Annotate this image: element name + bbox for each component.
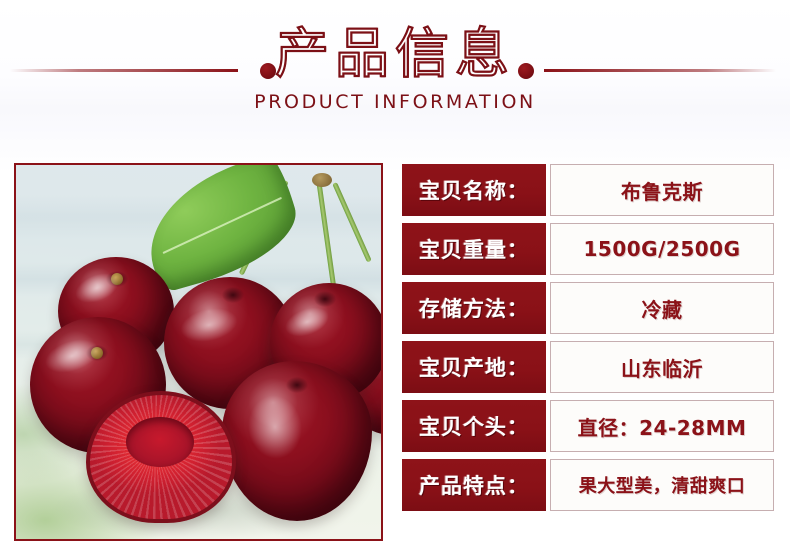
spec-label-cell: 宝贝重量： (402, 223, 546, 275)
spec-value-text: 布鲁克斯 (621, 176, 703, 205)
spec-label-text: 宝贝个头： (419, 411, 529, 441)
spec-label-text: 宝贝产地： (419, 352, 529, 382)
spec-value-cell: 布鲁克斯 (550, 164, 774, 216)
spec-value-cell: 1500G/2500G (550, 223, 774, 275)
product-photo (14, 163, 383, 541)
cherry-dimple (286, 377, 308, 393)
page-header: 产品信息 PRODUCT INFORMATION (0, 0, 790, 150)
table-row: 宝贝产地： 山东临沂 (402, 341, 774, 393)
cherry-dimple (222, 287, 244, 303)
spec-value-text: 直径：24-28MM (578, 412, 747, 441)
page-title: 产品信息 (0, 24, 790, 84)
spec-value-cell: 果大型美，清甜爽口 (550, 459, 774, 511)
spec-label-text: 产品特点： (419, 470, 529, 500)
spec-label-text: 存储方法： (419, 293, 529, 323)
spec-value-text: 1500G/2500G (584, 237, 741, 261)
cherry-highlight (177, 303, 240, 346)
content-area: 宝贝名称： 布鲁克斯 宝贝重量： 1500G/2500G 存储方法： (0, 150, 790, 542)
table-row: 宝贝名称： 布鲁克斯 (402, 164, 774, 216)
spec-value-cell: 直径：24-28MM (550, 400, 774, 452)
product-information-page: 产品信息 PRODUCT INFORMATION (0, 0, 790, 542)
table-row: 产品特点： 果大型美，清甜爽口 (402, 459, 774, 511)
halved-cherry (86, 391, 236, 523)
cherry-fruit (222, 361, 372, 521)
cherry-highlight (244, 392, 306, 463)
spec-label-text: 宝贝名称： (419, 175, 529, 205)
cherry-stem-node (312, 173, 332, 187)
cherry-highlight (41, 333, 104, 379)
spec-label-cell: 宝贝个头： (402, 400, 546, 452)
product-photo-image (16, 165, 381, 539)
spec-label-cell: 宝贝产地： (402, 341, 546, 393)
spec-label-text: 宝贝重量： (419, 234, 529, 264)
table-row: 存储方法： 冷藏 (402, 282, 774, 334)
spec-value-cell: 山东临沂 (550, 341, 774, 393)
cherry-dimple (314, 291, 336, 307)
spec-value-text: 山东临沂 (621, 353, 703, 382)
cherry-highlight (281, 302, 333, 342)
spec-value-text: 冷藏 (642, 294, 683, 323)
spec-value-cell: 冷藏 (550, 282, 774, 334)
table-row: 宝贝重量： 1500G/2500G (402, 223, 774, 275)
table-row: 宝贝个头： 直径：24-28MM (402, 400, 774, 452)
spec-label-cell: 存储方法： (402, 282, 546, 334)
spec-table: 宝贝名称： 布鲁克斯 宝贝重量： 1500G/2500G 存储方法： (402, 164, 774, 511)
title-block: 产品信息 PRODUCT INFORMATION (0, 24, 790, 114)
page-subtitle: PRODUCT INFORMATION (0, 90, 790, 114)
cherry-pit-cavity (126, 417, 194, 467)
spec-label-cell: 产品特点： (402, 459, 546, 511)
spec-value-text: 果大型美，清甜爽口 (579, 472, 746, 498)
spec-label-cell: 宝贝名称： (402, 164, 546, 216)
